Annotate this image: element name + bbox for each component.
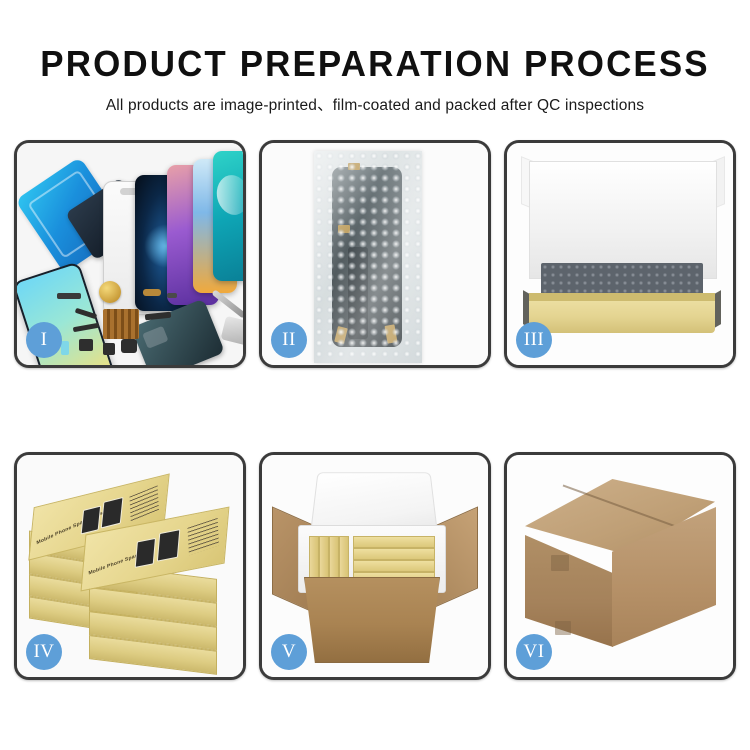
step-panel-3[interactable]: III [504,140,736,368]
plastic-sheen [314,151,422,363]
process-grid: I II [14,140,736,680]
inner-box-vertical [329,536,339,584]
inner-box-vertical [319,536,329,584]
page-subtitle: All products are image-printed、film-coat… [0,96,750,116]
box-tray-edge [529,293,715,301]
box-label-screen-3 [135,538,156,568]
box-lid-inner-icon [529,161,717,279]
box-label-lines-back [129,485,158,522]
sim-tray-icon [61,341,69,355]
box-label-screen-4 [157,529,180,562]
small-chip-icon [167,293,177,298]
teal-phone-icon [213,151,246,281]
step-panel-4[interactable]: Mobile Phone Spare Parts Mobile Phone Sp… [14,452,246,680]
box-label-lines-front [187,518,219,555]
page-title: PRODUCT PREPARATION PROCESS [11,44,739,84]
header: PRODUCT PREPARATION PROCESS All products… [0,0,750,116]
inner-box-vertical [309,536,319,584]
step-panel-2[interactable]: II [259,140,491,368]
inner-box-horizontal [353,548,435,560]
circuit-board-icon [103,309,139,339]
button-part-icon [79,339,93,351]
step-badge-5: V [271,634,307,670]
step-badge-1: I [26,322,62,358]
step-panel-5[interactable]: V [259,452,491,680]
box-label-screen-2 [101,497,124,529]
carton-tape-lower [555,621,571,635]
inner-box-horizontal [353,536,435,548]
step-badge-2: II [271,322,307,358]
bubble-wrap-bag-icon [314,151,422,363]
vibrator-part-icon [121,339,137,353]
speaker-part-icon [99,281,121,303]
camera-part-icon [103,343,115,355]
poster-root: PRODUCT PREPARATION PROCESS All products… [0,0,750,750]
step-panel-1[interactable]: I [14,140,246,368]
step-badge-3: III [516,322,552,358]
step-panel-6[interactable]: VI [504,452,736,680]
connector-part-icon [143,289,161,296]
chip-part-icon [57,293,81,299]
inner-box-vertical [339,536,349,584]
box-label-screen-1 [81,505,102,534]
step-badge-6: VI [516,634,552,670]
carton-body-icon [304,577,440,663]
inner-box-horizontal [353,560,435,572]
carton-tape-upper [551,555,569,571]
step-badge-4: IV [26,634,62,670]
